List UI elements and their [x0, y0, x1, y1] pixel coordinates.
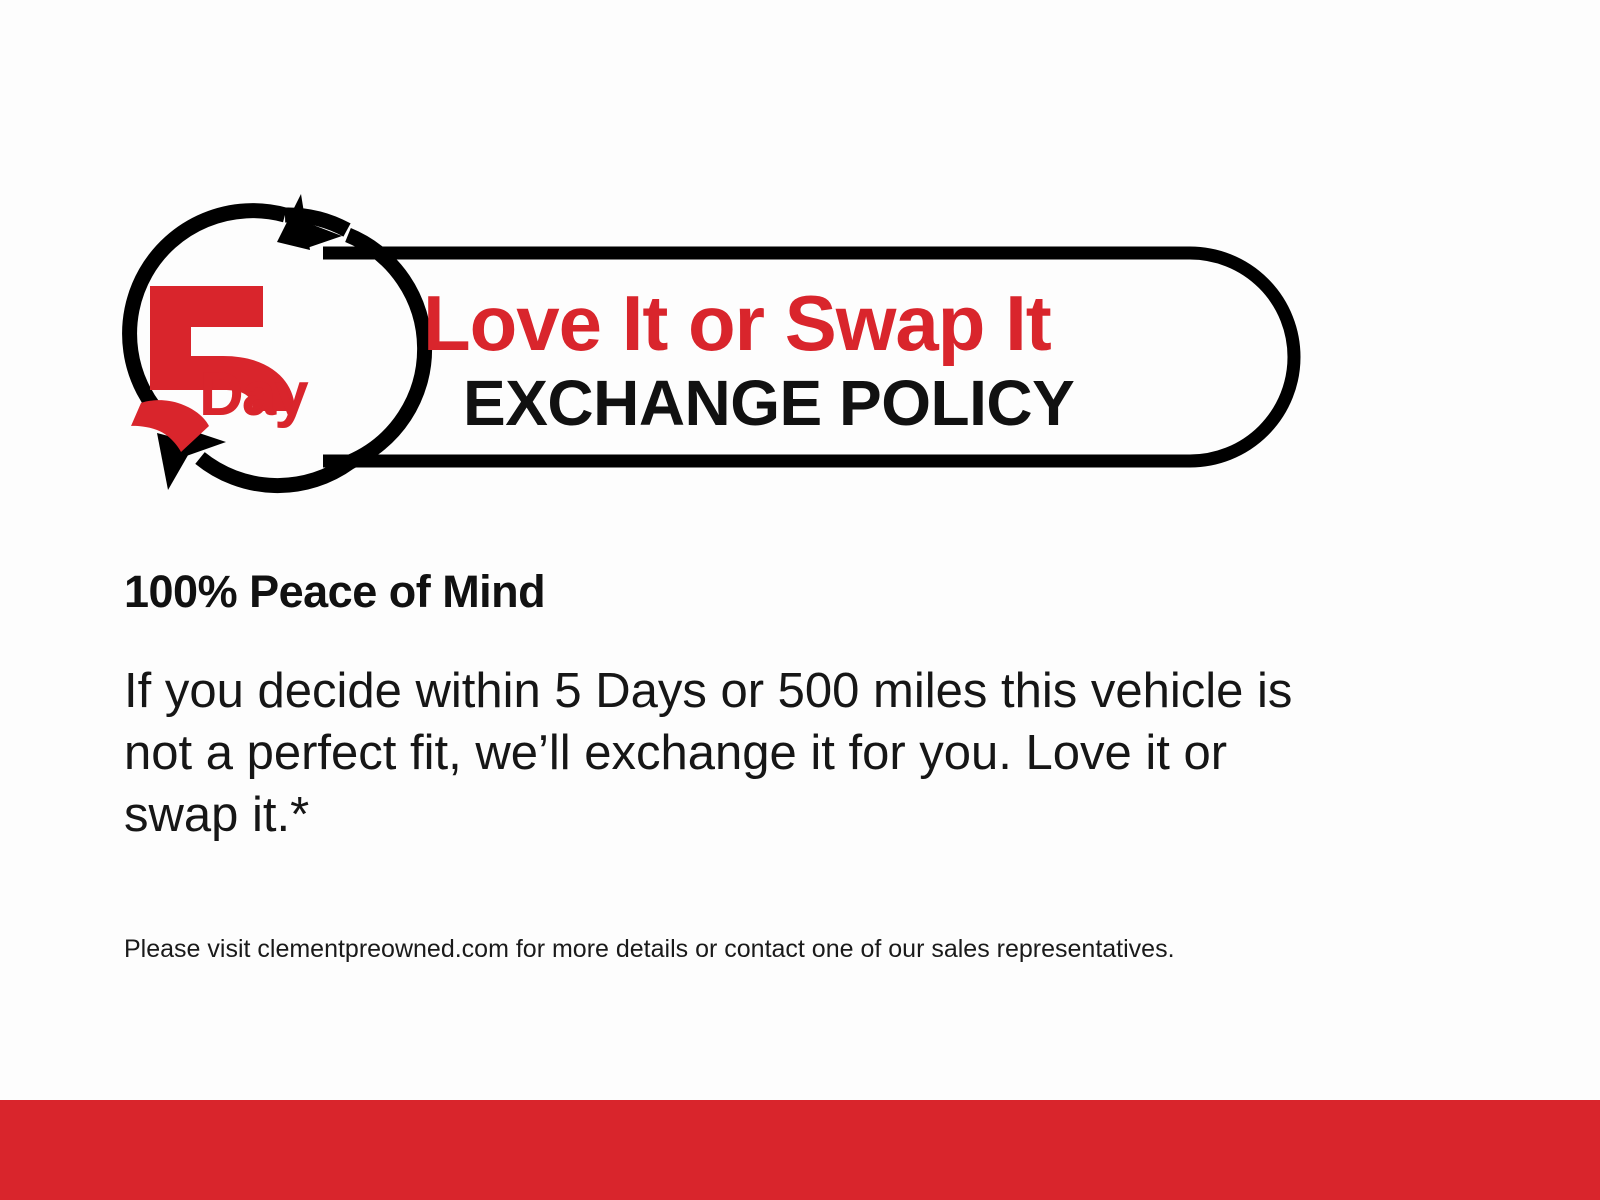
badge-headline-black: EXCHANGE POLICY: [463, 367, 1074, 439]
badge-period-label: Day: [199, 360, 309, 429]
policy-footnote: Please visit clementpreowned.com for mor…: [124, 932, 1424, 966]
exchange-policy-badge: Day Love It or Swap It EXCHANGE POLICY: [95, 190, 1325, 500]
footer-red-bar: [0, 1100, 1600, 1200]
promo-page: Day Love It or Swap It EXCHANGE POLICY 1…: [0, 0, 1600, 1200]
five-day-mark: Day: [131, 286, 309, 452]
badge-headline-red: Love It or Swap It: [423, 279, 1052, 367]
peace-of-mind-subhead: 100% Peace of Mind: [124, 566, 545, 618]
policy-description: If you decide within 5 Days or 500 miles…: [124, 660, 1334, 846]
